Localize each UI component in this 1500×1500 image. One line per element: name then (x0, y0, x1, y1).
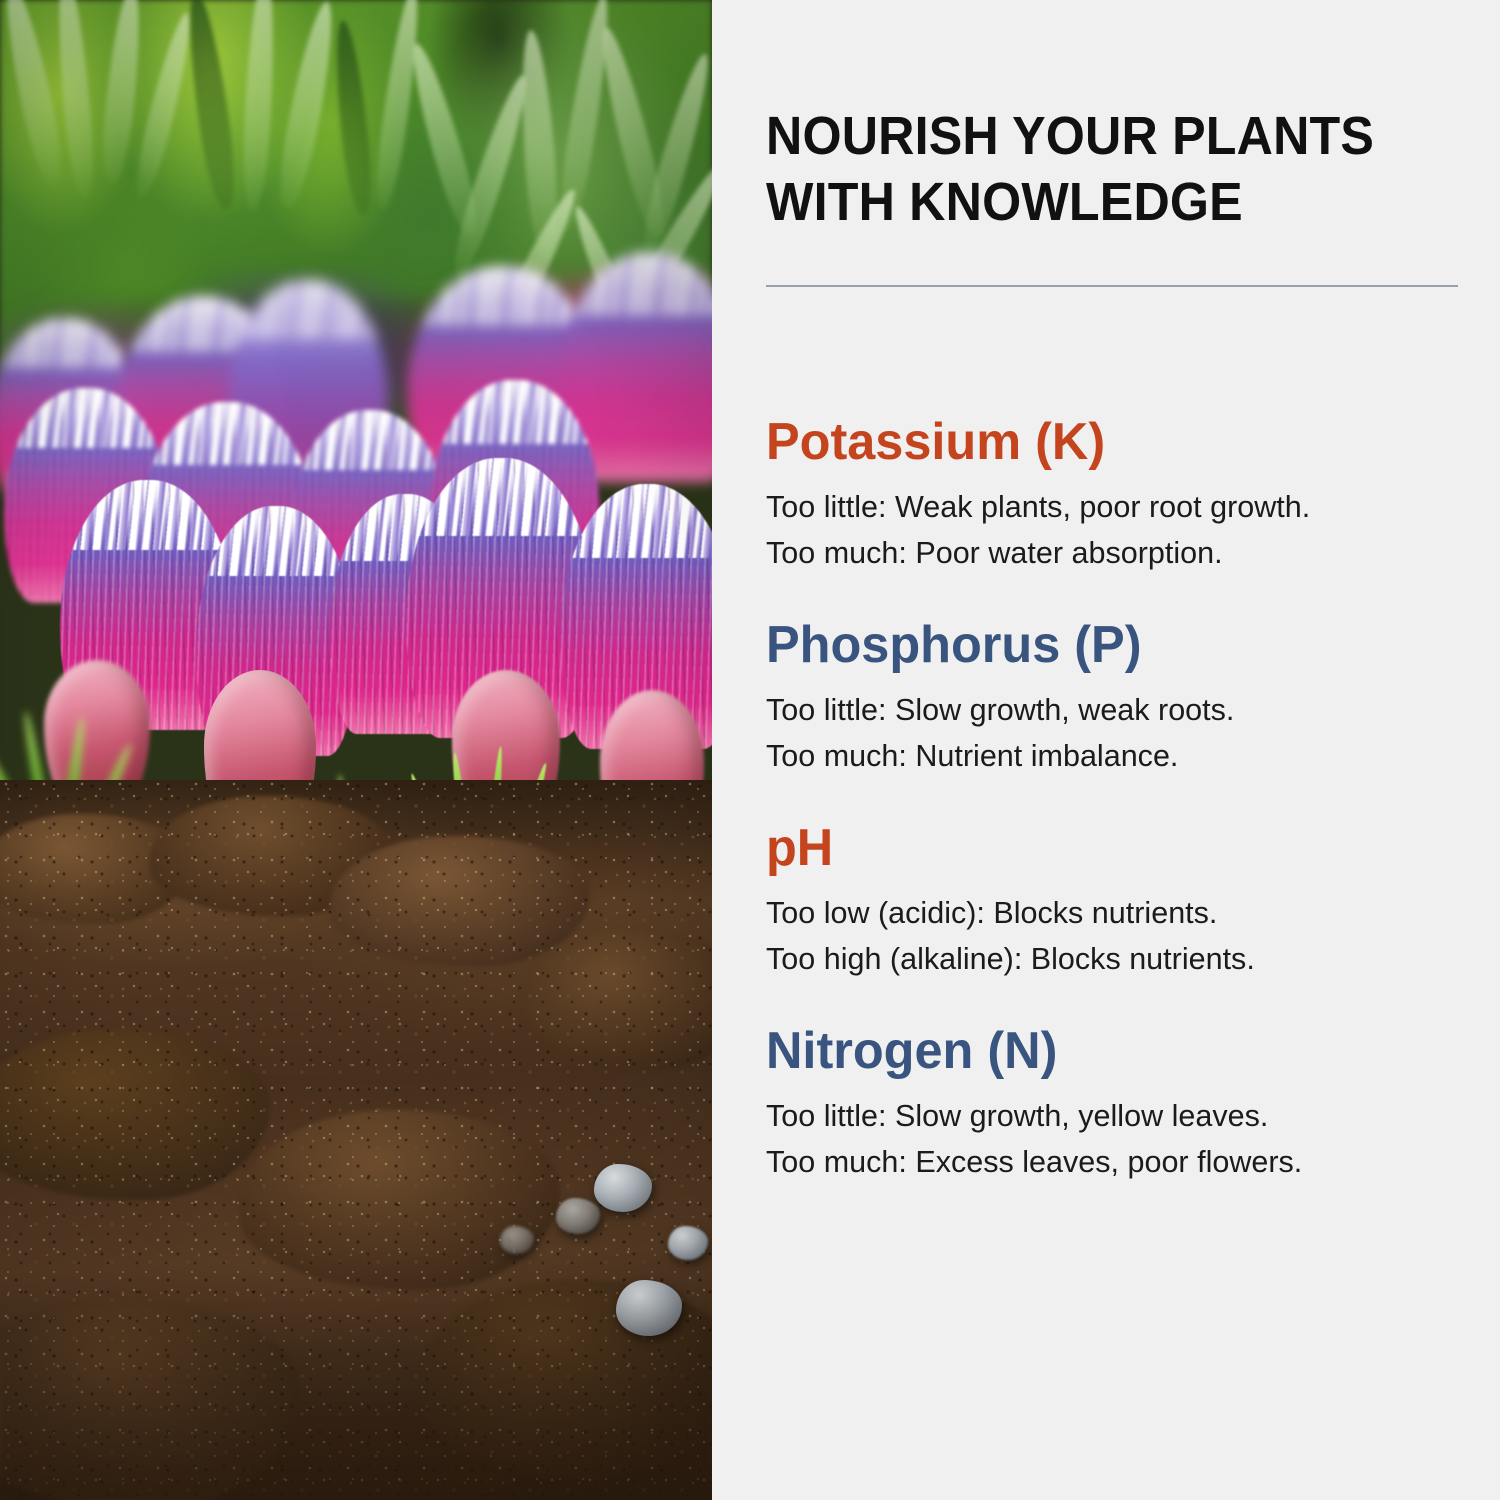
nutrient-section-phosphorus: Phosphorus (P) Too little: Slow growth, … (766, 618, 1466, 779)
title-divider (766, 285, 1458, 287)
section-too-little-phosphorus: Too little: Slow growth, weak roots. (766, 687, 1456, 733)
plant-soil-photo (0, 0, 712, 1500)
page-title-line-1: NOURISH YOUR PLANTS (766, 104, 1417, 170)
section-too-high-ph: Too high (alkaline): Blocks nutrients. (766, 936, 1456, 982)
section-too-much-nitrogen: Too much: Excess leaves, poor flowers. (766, 1139, 1456, 1185)
page-title-line-2: WITH KNOWLEDGE (766, 170, 1417, 236)
nutrient-section-potassium: Potassium (K) Too little: Weak plants, p… (766, 415, 1466, 576)
nutrient-section-list: Potassium (K) Too little: Weak plants, p… (766, 415, 1466, 1184)
section-heading-phosphorus: Phosphorus (P) (766, 618, 1445, 673)
soil-depth-blur (0, 1290, 712, 1500)
section-too-much-phosphorus: Too much: Nutrient imbalance. (766, 733, 1456, 779)
section-too-little-potassium: Too little: Weak plants, poor root growt… (766, 484, 1456, 530)
section-too-much-potassium: Too much: Poor water absorption. (766, 530, 1456, 576)
page-title: NOURISH YOUR PLANTS WITH KNOWLEDGE (766, 104, 1417, 236)
section-heading-nitrogen: Nitrogen (N) (766, 1024, 1445, 1079)
section-heading-potassium: Potassium (K) (766, 415, 1445, 470)
section-too-little-nitrogen: Too little: Slow growth, yellow leaves. (766, 1093, 1456, 1139)
nutrient-section-ph: pH Too low (acidic): Blocks nutrients. T… (766, 821, 1466, 982)
nutrient-section-nitrogen: Nitrogen (N) Too little: Slow growth, ye… (766, 1024, 1466, 1185)
infographic-canvas: NOURISH YOUR PLANTS WITH KNOWLEDGE Potas… (0, 0, 1500, 1500)
section-too-low-ph: Too low (acidic): Blocks nutrients. (766, 890, 1456, 936)
content-panel: NOURISH YOUR PLANTS WITH KNOWLEDGE Potas… (712, 0, 1500, 1500)
soil-bed (0, 780, 712, 1500)
section-heading-ph: pH (766, 821, 1445, 876)
